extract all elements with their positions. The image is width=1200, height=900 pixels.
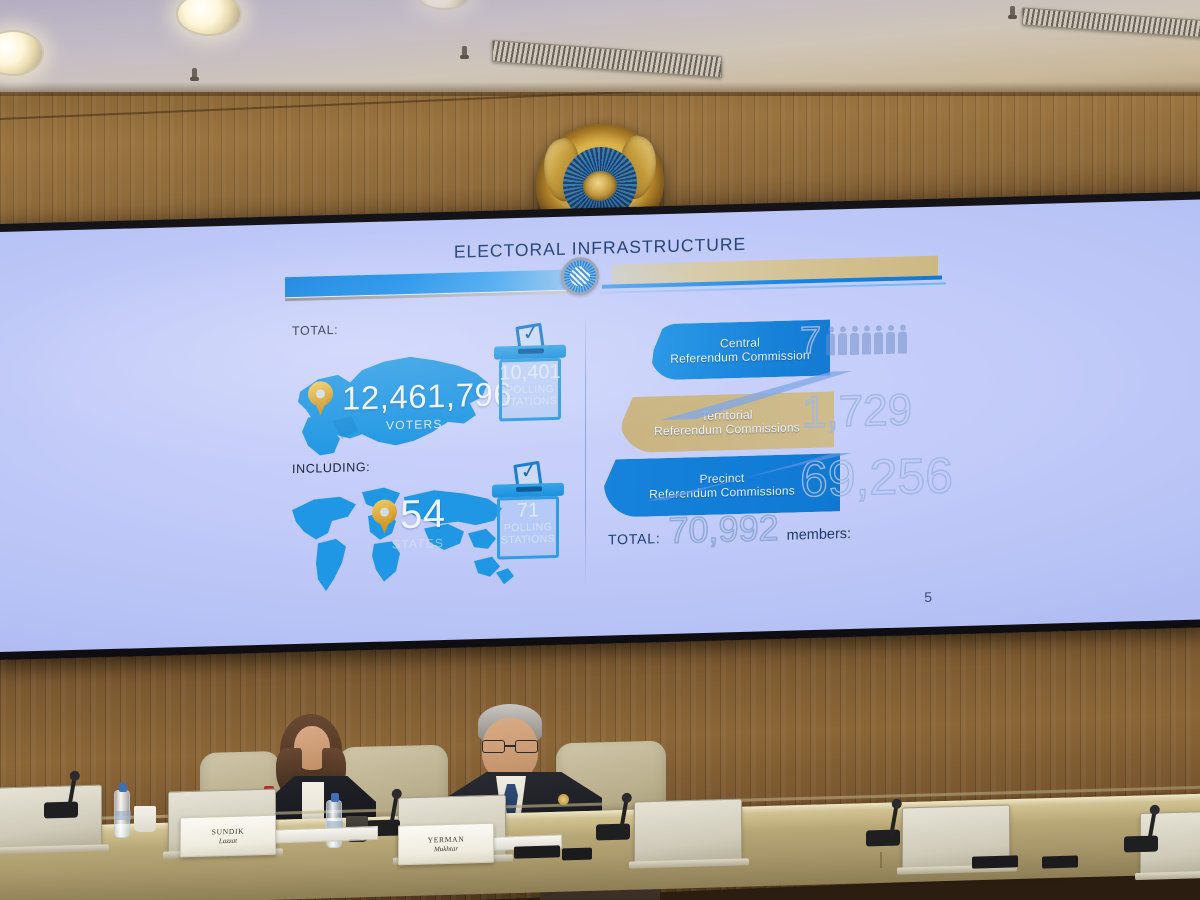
total-members-value: 70,992 <box>669 507 779 552</box>
mobile-phone[interactable] <box>514 845 560 858</box>
mobile-phone[interactable] <box>972 855 1018 868</box>
nameplate-given: Lazzat <box>219 837 237 846</box>
map-pin-icon <box>308 381 333 416</box>
microphone[interactable] <box>1124 836 1158 853</box>
slide-title: ELECTORAL INFRASTRUCTURE <box>0 222 1200 275</box>
ballot-slot <box>518 348 544 354</box>
sprinkler-head <box>192 68 197 81</box>
nameplate-surname: YERMAN <box>428 834 465 844</box>
voters-count: 12,461,796 <box>342 375 512 418</box>
total-members-label: TOTAL: <box>608 530 661 547</box>
panel-divider <box>585 314 586 586</box>
people-silhouettes-icon <box>826 323 907 355</box>
nameplate-surname: SUNDIK <box>212 827 245 837</box>
total-members-row: TOTAL: 70,992 members: <box>608 505 851 554</box>
nameplate-left: SUNDIK Lazzat <box>180 815 276 858</box>
polling-stations-count: 71 <box>492 499 564 524</box>
table-seam <box>880 852 882 868</box>
polling-stations-label: POLLING STATIONS <box>492 521 564 547</box>
nameplate-right: YERMAN Mukhtar <box>398 823 494 866</box>
projection-screen-area: ELECTORAL INFRASTRUCTURE TOTAL: 12,461,7… <box>0 200 1200 652</box>
polling-stations-count: 10,401 <box>494 361 566 386</box>
commission-line2: Referendum Commissions <box>649 483 795 501</box>
mobile-phone[interactable] <box>1042 855 1078 868</box>
commission-line2: Referendum Commissions <box>654 420 800 438</box>
commission-value-central: 7 <box>800 320 821 364</box>
slide-page-number: 5 <box>924 589 932 605</box>
presentation-slide: ELECTORAL INFRASTRUCTURE TOTAL: 12,461,7… <box>0 200 1200 652</box>
commission-line2: Referendum Commission <box>670 348 810 366</box>
ballot-box-total-icon: 10,401 POLLING STATIONS <box>494 327 566 425</box>
ballot-slot <box>516 486 542 492</box>
states-label: STATES <box>392 536 444 551</box>
polling-label-line2: STATIONS <box>503 395 557 408</box>
nameplate-given: Mukhtar <box>434 845 458 854</box>
cup[interactable] <box>134 806 156 832</box>
water-bottle[interactable] <box>114 790 130 838</box>
header-bar-blue <box>285 269 573 297</box>
polling-stations-label: POLLING STATIONS <box>494 383 566 409</box>
commission-line1: Territorial <box>701 408 753 423</box>
commission-line1: Central <box>720 335 760 350</box>
total-section-label: TOTAL: <box>292 323 338 338</box>
conference-hall-scene: ELECTORAL INFRASTRUCTURE TOTAL: 12,461,7… <box>0 0 1200 900</box>
voters-label: VOTERS <box>386 417 443 433</box>
sprinkler-head <box>1010 6 1015 19</box>
total-members-unit: members: <box>787 526 851 544</box>
eyeglasses-icon <box>482 740 538 753</box>
microphone[interactable] <box>596 824 630 841</box>
including-section-label: INCLUDING: <box>292 460 370 476</box>
microphone[interactable] <box>866 830 900 847</box>
commission-line1: Precinct <box>700 471 745 486</box>
mobile-phone[interactable] <box>562 848 592 861</box>
commission-value-territorial: 1,729 <box>802 385 912 438</box>
commission-value-precinct: 69,256 <box>800 446 953 508</box>
microphone[interactable] <box>44 802 78 819</box>
polling-label-line2: STATIONS <box>501 533 555 546</box>
ballot-box-including-icon: 71 POLLING STATIONS <box>492 465 564 563</box>
map-pin-icon <box>372 499 397 534</box>
states-count: 54 <box>400 492 446 538</box>
header-bar-gold <box>612 256 938 285</box>
cec-seal-icon <box>561 257 599 296</box>
sprinkler-head <box>462 46 467 59</box>
laptop[interactable] <box>634 798 742 863</box>
